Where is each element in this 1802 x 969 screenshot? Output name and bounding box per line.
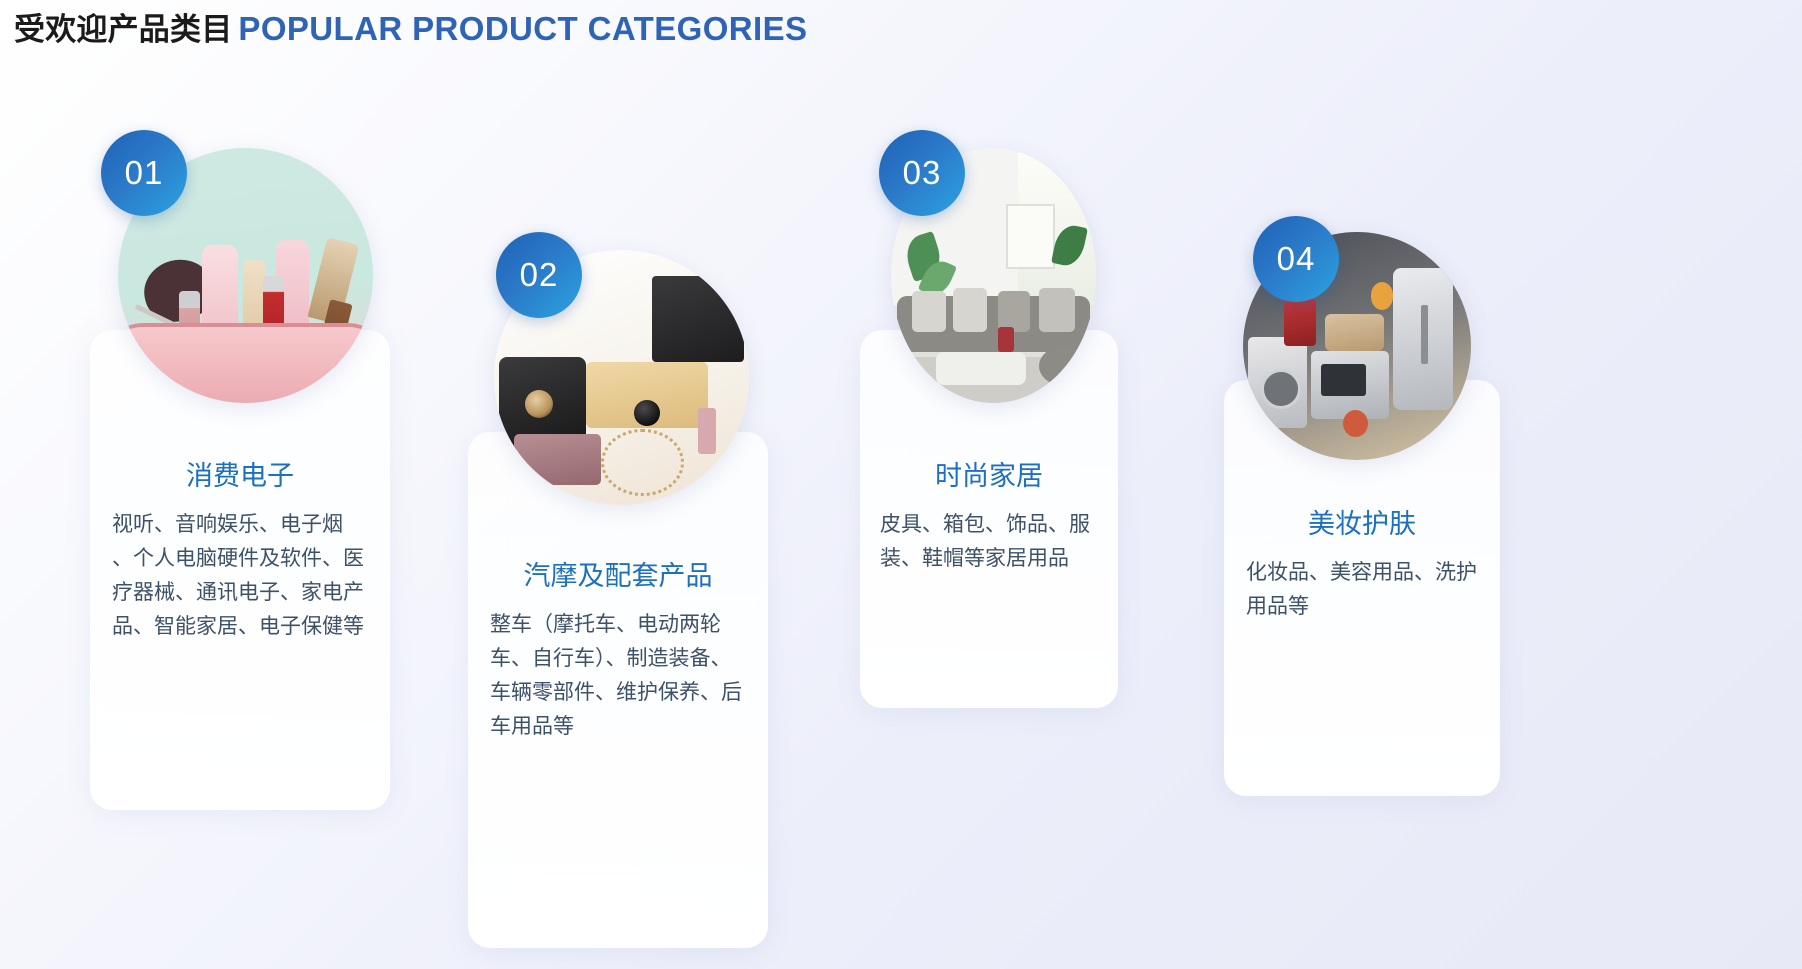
category-card-01-content: 消费电子 视听、音响娱乐、电子烟 、个人电脑硬件及软件、医疗器械、通讯电子、家电…: [90, 460, 390, 644]
category-card-03-content: 时尚家居 皮具、箱包、饰品、服装、鞋帽等家居用品: [860, 460, 1118, 576]
category-card-04-title: 美妆护肤: [1246, 508, 1478, 542]
category-card-board: 消费电子 视听、音响娱乐、电子烟 、个人电脑硬件及软件、医疗器械、通讯电子、家电…: [0, 0, 1802, 969]
category-card-01-body: 视听、音响娱乐、电子烟 、个人电脑硬件及软件、医疗器械、通讯电子、家电产品、智能…: [112, 508, 368, 644]
category-card-04-body: 化妆品、美容用品、洗护用品等: [1246, 556, 1478, 624]
category-card-02-title: 汽摩及配套产品: [490, 560, 746, 594]
category-badge-01: 01: [101, 130, 187, 216]
category-card-03-title: 时尚家居: [880, 460, 1098, 494]
category-card-02[interactable]: 汽摩及配套产品 整车（摩托车、电动两轮车、自行车）、制造装备、车辆零部件、维护保…: [468, 432, 768, 948]
category-card-02-body: 整车（摩托车、电动两轮车、自行车）、制造装备、车辆零部件、维护保养、后车用品等: [490, 608, 746, 744]
category-card-04-content: 美妆护肤 化妆品、美容用品、洗护用品等: [1224, 508, 1500, 624]
category-card-02-content: 汽摩及配套产品 整车（摩托车、电动两轮车、自行车）、制造装备、车辆零部件、维护保…: [468, 560, 768, 744]
category-badge-02: 02: [496, 232, 582, 318]
category-badge-04: 04: [1253, 216, 1339, 302]
category-badge-03: 03: [879, 130, 965, 216]
category-card-03-body: 皮具、箱包、饰品、服装、鞋帽等家居用品: [880, 508, 1098, 576]
category-card-01-title: 消费电子: [112, 460, 368, 494]
